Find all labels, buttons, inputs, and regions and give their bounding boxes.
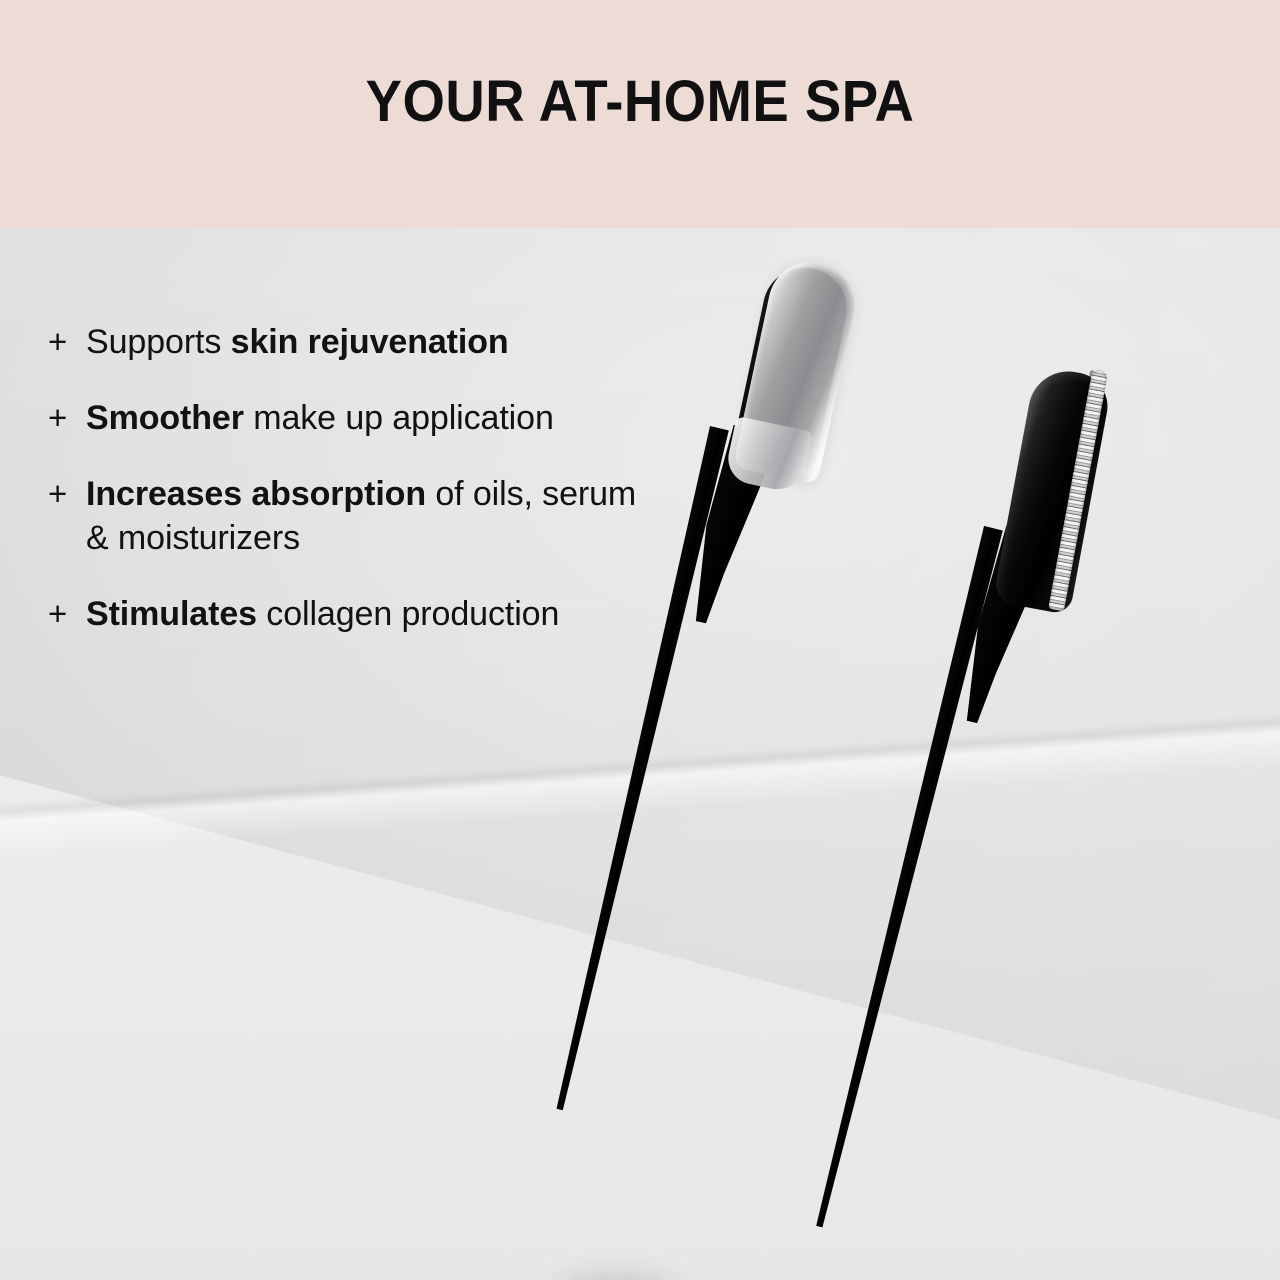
- bullet-plus-icon: +: [48, 592, 86, 636]
- benefit-3-bold: Increases absorption: [86, 475, 426, 513]
- bullet-plus-icon: +: [48, 396, 86, 440]
- bullet-plus-icon: +: [48, 472, 86, 516]
- benefit-text-1: Supports skin rejuvenation: [86, 320, 768, 364]
- benefit-item-1: + Supports skin rejuvenation: [48, 320, 768, 364]
- page-title: YOUR AT-HOME SPA: [38, 72, 1241, 132]
- benefits-list: + Supports skin rejuvenation + Smoother …: [48, 320, 768, 636]
- benefit-item-4: + Stimulates collagen production: [48, 592, 768, 636]
- product-photo-scene: + Supports skin rejuvenation + Smoother …: [0, 228, 1280, 1280]
- right-dermaplaning-tool: [790, 228, 1150, 1280]
- benefit-item-3: + Increases absorption of oils, serum& m…: [48, 472, 768, 560]
- bullet-plus-icon: +: [48, 320, 86, 364]
- benefit-2-bold: Smoother: [86, 399, 244, 437]
- product-benefits-image: + Supports skin rejuvenation + Smoother …: [0, 0, 1280, 1280]
- benefit-text-2: Smoother make up application: [86, 396, 768, 440]
- benefit-4-bold: Stimulates: [86, 595, 257, 633]
- benefit-text-3: Increases absorption of oils, serum& moi…: [86, 472, 768, 560]
- benefit-3-tail: of oils, serum: [426, 475, 636, 513]
- benefit-1-lead: Supports: [86, 323, 231, 361]
- benefit-text-4: Stimulates collagen production: [86, 592, 768, 636]
- benefit-item-2: + Smoother make up application: [48, 396, 768, 440]
- header-banner: YOUR AT-HOME SPA: [0, 0, 1280, 228]
- benefit-3-continuation: & moisturizers: [86, 519, 300, 557]
- benefit-1-bold: skin rejuvenation: [231, 323, 509, 361]
- benefit-4-tail: collagen production: [257, 595, 559, 633]
- benefit-2-tail: make up application: [244, 399, 554, 437]
